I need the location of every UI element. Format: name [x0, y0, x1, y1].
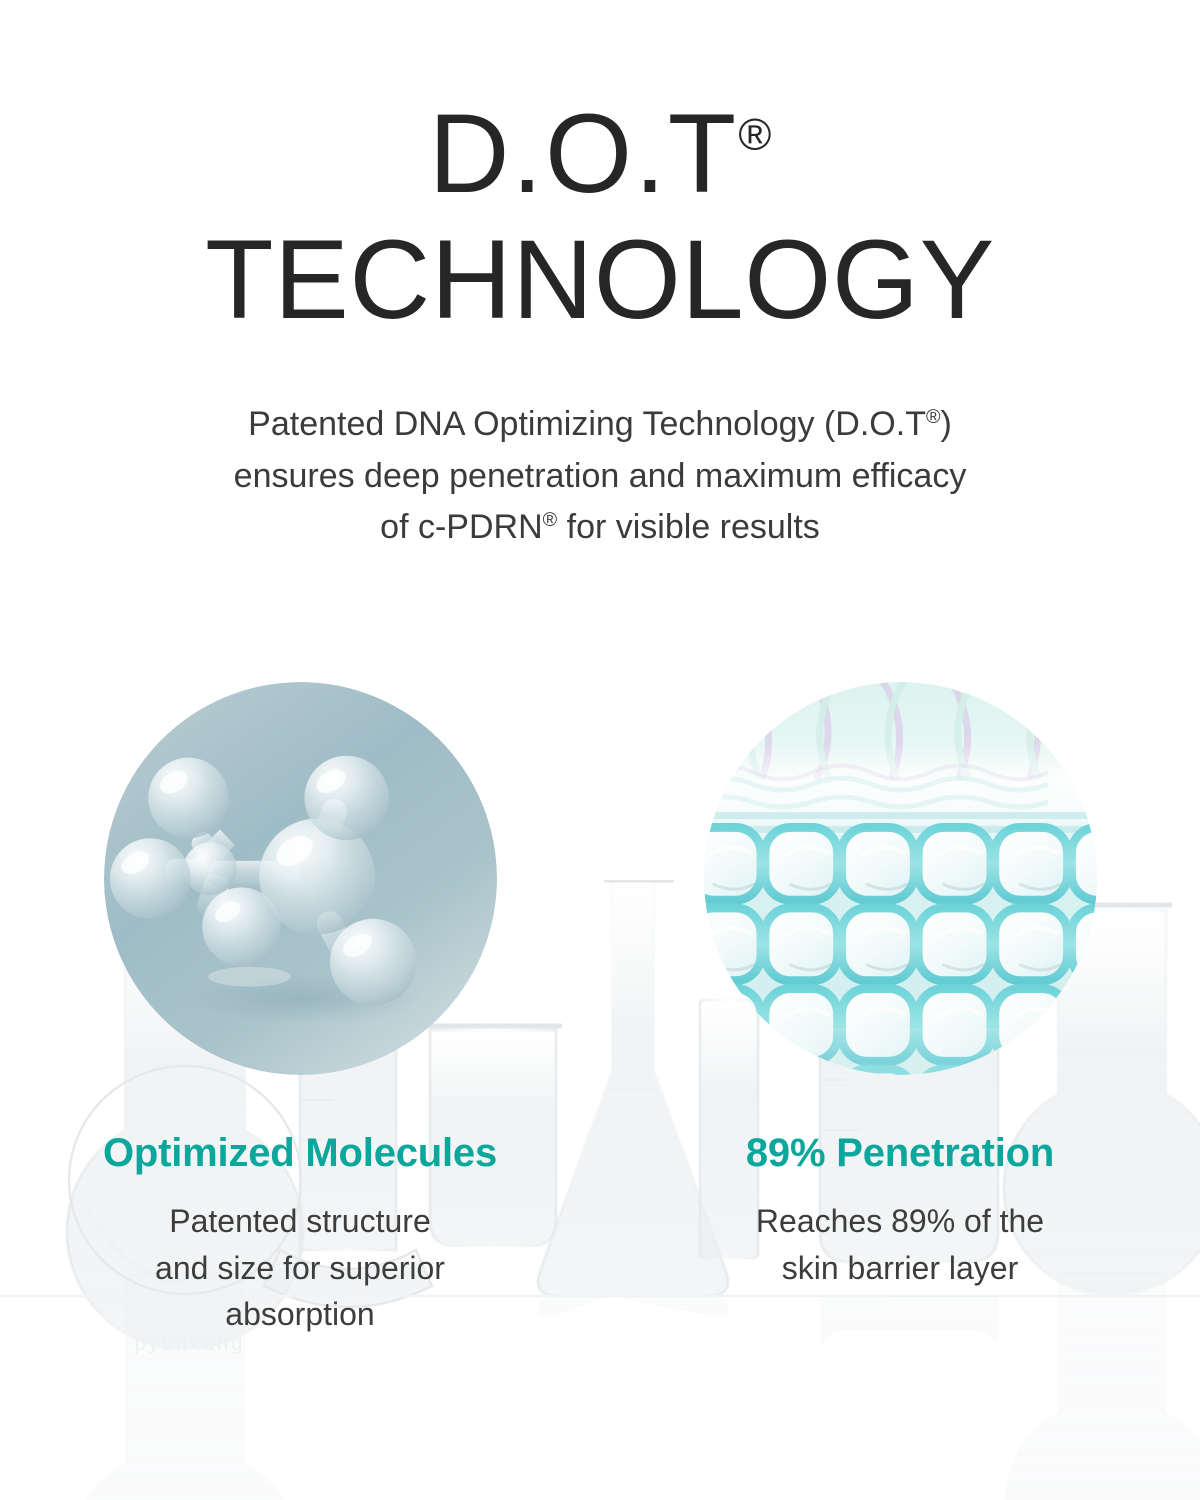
dot-technology-infographic: D.O.T® TECHNOLOGY Patented DNA Optimizin… — [0, 0, 1200, 1500]
registered-mark-icon: ® — [543, 509, 558, 531]
subtitle-line-3-text-a: of c-PDRN — [380, 508, 542, 546]
molecule-spheres-image — [104, 682, 497, 1075]
page-title-secondary: TECHNOLOGY — [0, 222, 1200, 338]
feature-body-line-1: Reaches 89% of the — [756, 1198, 1044, 1245]
registered-mark-icon: ® — [926, 406, 941, 428]
feature-body-optimized-molecules: Patented structure and size for superior… — [155, 1198, 445, 1338]
subtitle-line-3-text-b: for visible results — [557, 508, 820, 546]
feature-heading-optimized-molecules: Optimized Molecules — [103, 1131, 497, 1176]
feature-heading-penetration: 89% Penetration — [746, 1131, 1054, 1176]
feature-columns: Optimized Molecules Patented structure a… — [0, 682, 1200, 1338]
feature-body-line-1: Patented structure — [155, 1198, 445, 1245]
feature-optimized-molecules: Optimized Molecules Patented structure a… — [0, 682, 600, 1338]
feature-body-line-2: and size for superior — [155, 1245, 445, 1292]
subtitle-line-1-text-a: Patented DNA Optimizing Technology (D.O.… — [248, 405, 926, 443]
subtitle-line-1: Patented DNA Optimizing Technology (D.O.… — [0, 399, 1200, 451]
feature-body-penetration: Reaches 89% of the skin barrier layer — [756, 1198, 1044, 1291]
page-title-primary: D.O.T® — [0, 96, 1200, 212]
feature-body-line-2: skin barrier layer — [756, 1245, 1044, 1292]
registered-mark-icon: ® — [738, 109, 771, 159]
subtitle-line-2: ensures deep penetration and maximum eff… — [0, 451, 1200, 503]
subtitle-paragraph: Patented DNA Optimizing Technology (D.O.… — [0, 399, 1200, 554]
page-header: D.O.T® TECHNOLOGY — [0, 0, 1200, 339]
feature-penetration: 89% Penetration Reaches 89% of the skin … — [600, 682, 1200, 1338]
subtitle-line-1-text-b: ) — [941, 405, 952, 443]
subtitle-line-3: of c-PDRN® for visible results — [0, 502, 1200, 554]
page-title-text: D.O.T — [429, 91, 739, 216]
feature-body-line-3: absorption — [155, 1291, 445, 1338]
skin-barrier-lattice-image — [704, 682, 1097, 1075]
